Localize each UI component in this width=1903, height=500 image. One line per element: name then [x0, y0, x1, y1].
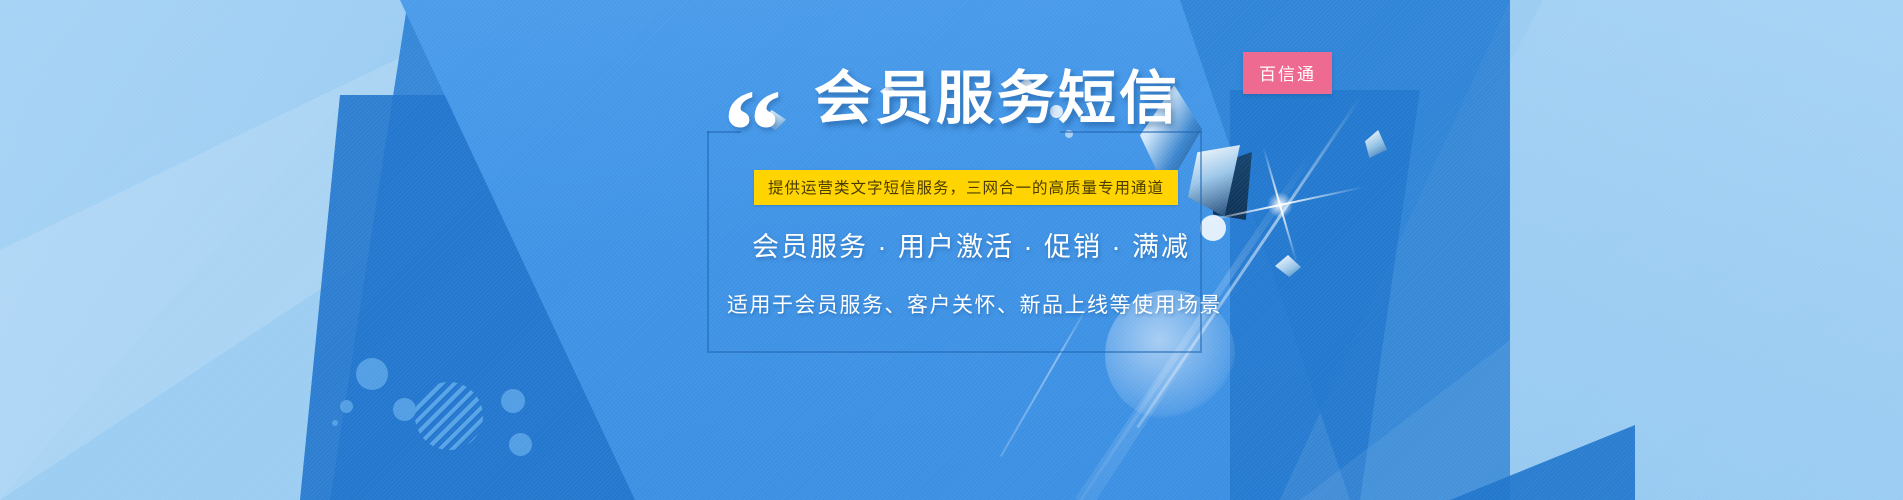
banner-title: 会员服务短信	[814, 70, 1180, 128]
brand-badge[interactable]: 百信通	[1243, 52, 1332, 94]
banner-content: “ 会员服务短信 提供运营类文字短信服务，三网合一的高质量专用通道 会员服务 ·…	[0, 0, 1903, 500]
highlight-bar: 提供运营类文字短信服务，三网合一的高质量专用通道	[754, 170, 1178, 205]
banner-tagline: 会员服务 · 用户激活 · 促销 · 满减	[752, 225, 1190, 264]
banner-subline: 适用于会员服务、客户关怀、新品上线等使用场景	[727, 289, 1222, 319]
promo-banner: “ 会员服务短信 提供运营类文字短信服务，三网合一的高质量专用通道 会员服务 ·…	[0, 0, 1903, 500]
